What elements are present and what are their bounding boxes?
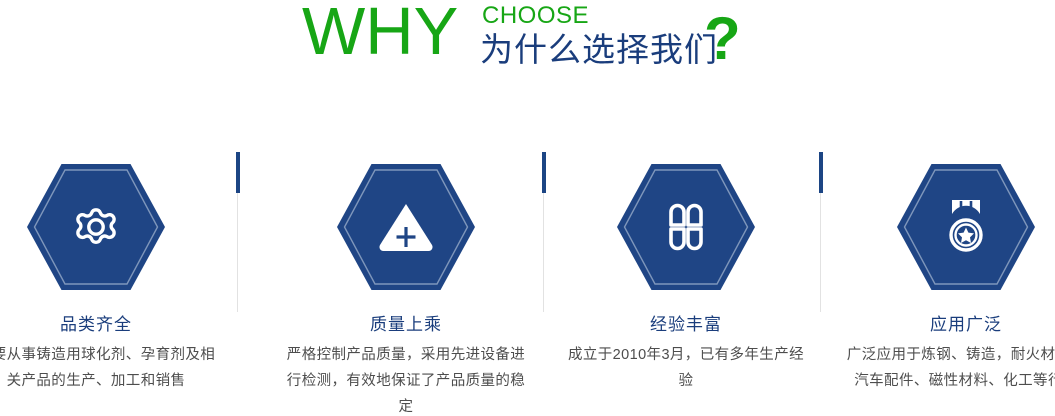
feature-column: 经验丰富 成立于2010年3月，已有多年生产经验	[546, 150, 826, 416]
why-choose-us-section: WHY CHOOSE 为什么选择我们 ?	[0, 0, 1055, 416]
feature-description: 成立于2010年3月，已有多年生产经验	[546, 342, 826, 394]
question-mark-glyph: ?	[704, 8, 741, 70]
feature-column: 质量上乘 严格控制产品质量，采用先进设备进行检测，有效地保证了产品质量的稳定	[266, 150, 546, 416]
feature-title: 经验丰富	[546, 314, 826, 336]
feature-column: 品类齐全 主要从事铸造用球化剂、孕育剂及相关产品的生产、加工和销售	[0, 150, 236, 416]
hexagon-badge	[897, 164, 1035, 290]
feature-title: 应用广泛	[826, 314, 1055, 336]
triangle-plus-icon	[337, 164, 475, 290]
hexagon-badge	[27, 164, 165, 290]
medal-star-icon	[897, 164, 1035, 290]
hexagon-badge	[337, 164, 475, 290]
hexagon-badge	[617, 164, 755, 290]
feature-description: 主要从事铸造用球化剂、孕育剂及相关产品的生产、加工和销售	[0, 342, 236, 394]
gear-icon	[27, 164, 165, 290]
feature-title: 品类齐全	[0, 314, 236, 336]
heading-chinese: 为什么选择我们	[480, 30, 718, 70]
four-petal-clover-icon	[617, 164, 755, 290]
feature-columns: 品类齐全 主要从事铸造用球化剂、孕育剂及相关产品的生产、加工和销售	[0, 150, 1055, 416]
feature-title: 质量上乘	[266, 314, 546, 336]
feature-description: 严格控制产品质量，采用先进设备进行检测，有效地保证了产品质量的稳定	[266, 342, 546, 416]
section-header: WHY CHOOSE 为什么选择我们 ?	[0, 0, 1055, 92]
feature-column: 应用广泛 广泛应用于炼钢、铸造，耐火材料、汽车配件、磁性材料、化工等行业	[826, 150, 1055, 416]
section-header-inner: WHY CHOOSE 为什么选择我们 ?	[302, 0, 762, 92]
feature-description: 广泛应用于炼钢、铸造，耐火材料、汽车配件、磁性材料、化工等行业	[826, 342, 1055, 394]
heading-why: WHY	[302, 0, 458, 68]
heading-choose: CHOOSE	[482, 2, 589, 29]
